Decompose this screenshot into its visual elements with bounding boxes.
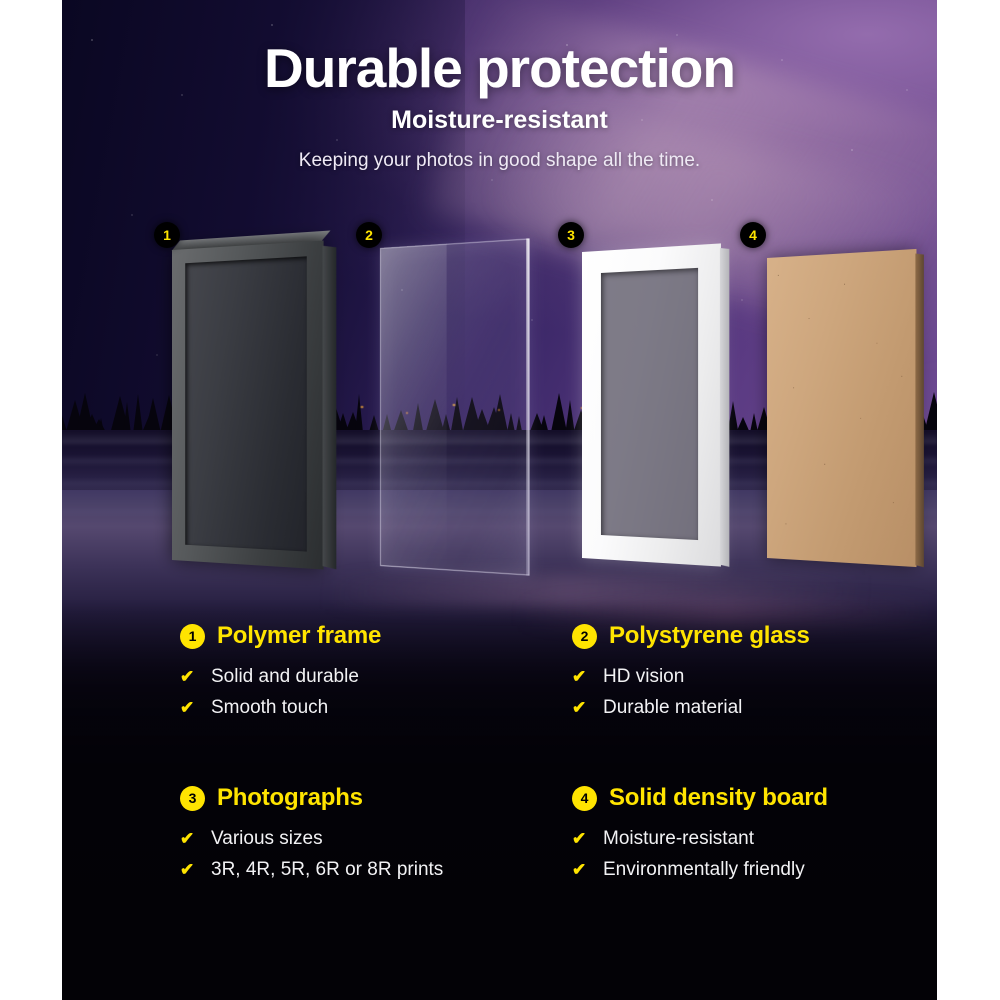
callout-badge-3: 3 xyxy=(558,222,584,248)
mat-side-face xyxy=(720,248,729,567)
callout-badge-2: 2 xyxy=(356,222,382,248)
feature-badge-3: 3 xyxy=(180,786,205,811)
bullet-text: HD vision xyxy=(603,666,684,688)
feature-badge-1: 1 xyxy=(180,624,205,649)
bullet-text: Various sizes xyxy=(211,828,323,850)
check-icon: ✔ xyxy=(572,667,588,687)
list-item: ✔ Durable material xyxy=(572,697,810,719)
photograph-mat-panel xyxy=(582,243,721,566)
feature-heading: 3 Photographs xyxy=(180,784,443,812)
glass-sheen xyxy=(380,244,447,571)
page-tagline: Keeping your photos in good shape all th… xyxy=(62,150,937,172)
bullet-text: 3R, 4R, 5R, 6R or 8R prints xyxy=(211,859,443,881)
product-infographic: Durable protection Moisture-resistant Ke… xyxy=(0,0,1000,1000)
feature-title-2: Polystyrene glass xyxy=(609,622,810,650)
feature-bullet-list-1: ✔ Solid and durable ✔ Smooth touch xyxy=(180,666,381,719)
glass-edge-highlight xyxy=(526,238,529,575)
check-icon: ✔ xyxy=(572,698,588,718)
night-lake-scene: Durable protection Moisture-resistant Ke… xyxy=(62,0,937,1000)
feature-bullet-list-2: ✔ HD vision ✔ Durable material xyxy=(572,666,810,719)
list-item: ✔ 3R, 4R, 5R, 6R or 8R prints xyxy=(180,859,443,881)
feature-block-density-board: 4 Solid density board ✔ Moisture-resista… xyxy=(572,784,828,890)
check-icon: ✔ xyxy=(572,829,588,849)
list-item: ✔ Moisture-resistant xyxy=(572,828,828,850)
feature-bullet-list-4: ✔ Moisture-resistant ✔ Environmentally f… xyxy=(572,828,828,881)
feature-heading: 2 Polystyrene glass xyxy=(572,622,810,650)
polymer-frame-panel xyxy=(172,240,324,569)
check-icon: ✔ xyxy=(180,667,196,687)
feature-title-4: Solid density board xyxy=(609,784,828,812)
bullet-text: Smooth touch xyxy=(211,697,328,719)
check-icon: ✔ xyxy=(180,829,196,849)
callout-badge-1: 1 xyxy=(154,222,180,248)
feature-bullet-list-3: ✔ Various sizes ✔ 3R, 4R, 5R, 6R or 8R p… xyxy=(180,828,443,881)
feature-block-polymer-frame: 1 Polymer frame ✔ Solid and durable ✔ Sm… xyxy=(180,622,381,728)
feature-title-1: Polymer frame xyxy=(217,622,381,650)
bullet-text: Solid and durable xyxy=(211,666,359,688)
bullet-text: Environmentally friendly xyxy=(603,859,805,881)
bullet-text: Moisture-resistant xyxy=(603,828,754,850)
page-title: Durable protection xyxy=(62,36,937,100)
page-subtitle: Moisture-resistant xyxy=(62,106,937,135)
density-board-panel xyxy=(767,249,916,567)
list-item: ✔ HD vision xyxy=(572,666,810,688)
feature-title-3: Photographs xyxy=(217,784,363,812)
list-item: ✔ Environmentally friendly xyxy=(572,859,828,881)
bullet-text: Durable material xyxy=(603,697,742,719)
check-icon: ✔ xyxy=(572,860,588,880)
mdf-board-face xyxy=(767,249,916,567)
feature-badge-4: 4 xyxy=(572,786,597,811)
mdf-board-side-face xyxy=(915,254,923,568)
list-item: ✔ Various sizes xyxy=(180,828,443,850)
polystyrene-glass-panel xyxy=(380,238,529,575)
list-item: ✔ Smooth touch xyxy=(180,697,381,719)
polymer-frame-side-face xyxy=(323,246,337,570)
feature-block-photographs: 3 Photographs ✔ Various sizes ✔ 3R, 4R, … xyxy=(180,784,443,890)
check-icon: ✔ xyxy=(180,860,196,880)
feature-heading: 4 Solid density board xyxy=(572,784,828,812)
callout-badge-4: 4 xyxy=(740,222,766,248)
feature-block-polystyrene-glass: 2 Polystyrene glass ✔ HD vision ✔ Durabl… xyxy=(572,622,810,728)
mat-opening xyxy=(601,268,698,540)
polymer-frame-opening xyxy=(185,256,307,551)
feature-badge-2: 2 xyxy=(572,624,597,649)
check-icon: ✔ xyxy=(180,698,196,718)
list-item: ✔ Solid and durable xyxy=(180,666,381,688)
feature-heading: 1 Polymer frame xyxy=(180,622,381,650)
